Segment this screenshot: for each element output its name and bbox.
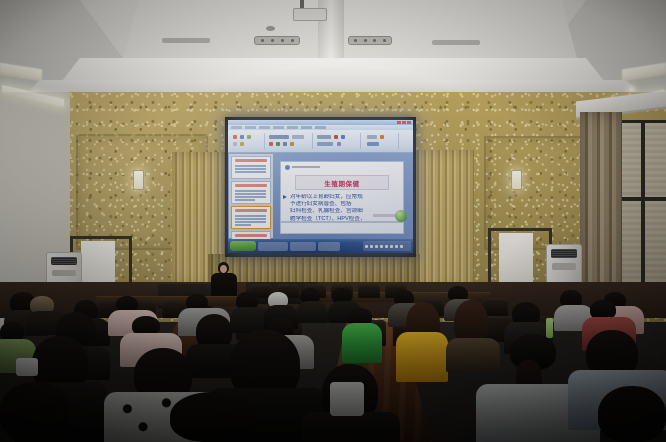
- ribbon-group-clipboard[interactable]: [230, 133, 265, 149]
- projection-screen[interactable]: 生殖期保健 对年龄以上育龄妇女，应常规 予进行妇女病普查、包括 妇科检查、乳腺检…: [228, 120, 413, 253]
- slide-title-text: 生殖期保健: [324, 178, 360, 188]
- projector-mount: [300, 0, 304, 8]
- slide-thumbnail-1[interactable]: [231, 156, 271, 179]
- slide-footer-mark: [373, 214, 397, 217]
- slide-logo-icon: [285, 165, 290, 170]
- ceiling-projector-icon: [293, 8, 327, 21]
- slide-header-text: [292, 166, 320, 168]
- desktop-logo-icon: [395, 210, 407, 222]
- right-window: [616, 120, 666, 306]
- start-button[interactable]: [230, 241, 256, 251]
- light-bar-right-icon: [432, 40, 480, 45]
- water-bottle: [546, 318, 553, 338]
- white-cup: [16, 358, 38, 376]
- presenter-face: [220, 265, 227, 273]
- window-curtain: [580, 112, 622, 306]
- system-tray[interactable]: [363, 241, 411, 251]
- fluted-panel-right: [414, 150, 474, 290]
- ribbon-group-drawing[interactable]: [364, 133, 399, 149]
- window-mullion-v: [641, 123, 645, 303]
- slide-bullet-line-1: 对年龄以上育龄妇女，应常规: [290, 194, 395, 201]
- slide-thumbnail-3[interactable]: [231, 206, 271, 229]
- ppt-workspace: 生殖期保健 对年龄以上育龄妇女，应常规 予进行妇女病普查、包括 妇科检查、乳腺检…: [228, 153, 413, 239]
- window-controls[interactable]: [397, 121, 411, 124]
- taskbar-item-3[interactable]: [318, 242, 340, 251]
- cove-light-right: [622, 63, 666, 82]
- cove-light-left: [0, 63, 42, 82]
- slide-bullet-arrow-icon: [283, 195, 287, 199]
- notes-pane[interactable]: [280, 222, 404, 234]
- ac-right-panel: [552, 263, 575, 270]
- spot-array-right-icon: [348, 36, 392, 45]
- spot-array-left-icon: [254, 36, 300, 45]
- light-bar-left-icon: [162, 38, 210, 43]
- slide-thumbnail-2[interactable]: [231, 181, 271, 204]
- slide-body-text: 对年龄以上育龄妇女，应常规 予进行妇女病普查、包括 妇科检查、乳腺检查、宫颈细 …: [290, 194, 395, 215]
- ribbon-group-font[interactable]: [266, 133, 313, 149]
- slide-editing-area[interactable]: 生殖期保健 对年龄以上育龄妇女，应常规 予进行妇女病普查、包括 妇科检查、乳腺检…: [274, 155, 410, 236]
- lecture-hall-photo: 生殖期保健 对年龄以上育龄妇女，应常规 予进行妇女病普查、包括 妇科检查、乳腺检…: [0, 0, 666, 442]
- slide-bullet-line-2: 予进行妇女病普查、包括: [290, 201, 395, 208]
- ac-left-panel: [52, 270, 75, 276]
- ppt-ribbon[interactable]: [228, 130, 413, 153]
- current-slide[interactable]: 生殖期保健 对年龄以上育龄妇女，应常规 予进行妇女病普查、包括 妇科检查、乳腺检…: [280, 161, 404, 222]
- taskbar-item-2[interactable]: [290, 242, 316, 251]
- white-bag: [330, 382, 364, 416]
- slide-thumbnail-panel[interactable]: [229, 154, 273, 238]
- ac-right-grill-icon: [551, 249, 577, 258]
- ac-left-grill-icon: [51, 257, 77, 265]
- taskbar-item-1[interactable]: [258, 242, 288, 251]
- smoke-detector-icon: [266, 26, 275, 31]
- wall-sconce-left-icon: [133, 170, 144, 190]
- wall-sconce-right-icon: [511, 170, 522, 190]
- slide-title-box: 生殖期保健: [295, 175, 389, 190]
- taskbar[interactable]: [228, 239, 413, 253]
- ribbon-group-paragraph[interactable]: [314, 133, 361, 149]
